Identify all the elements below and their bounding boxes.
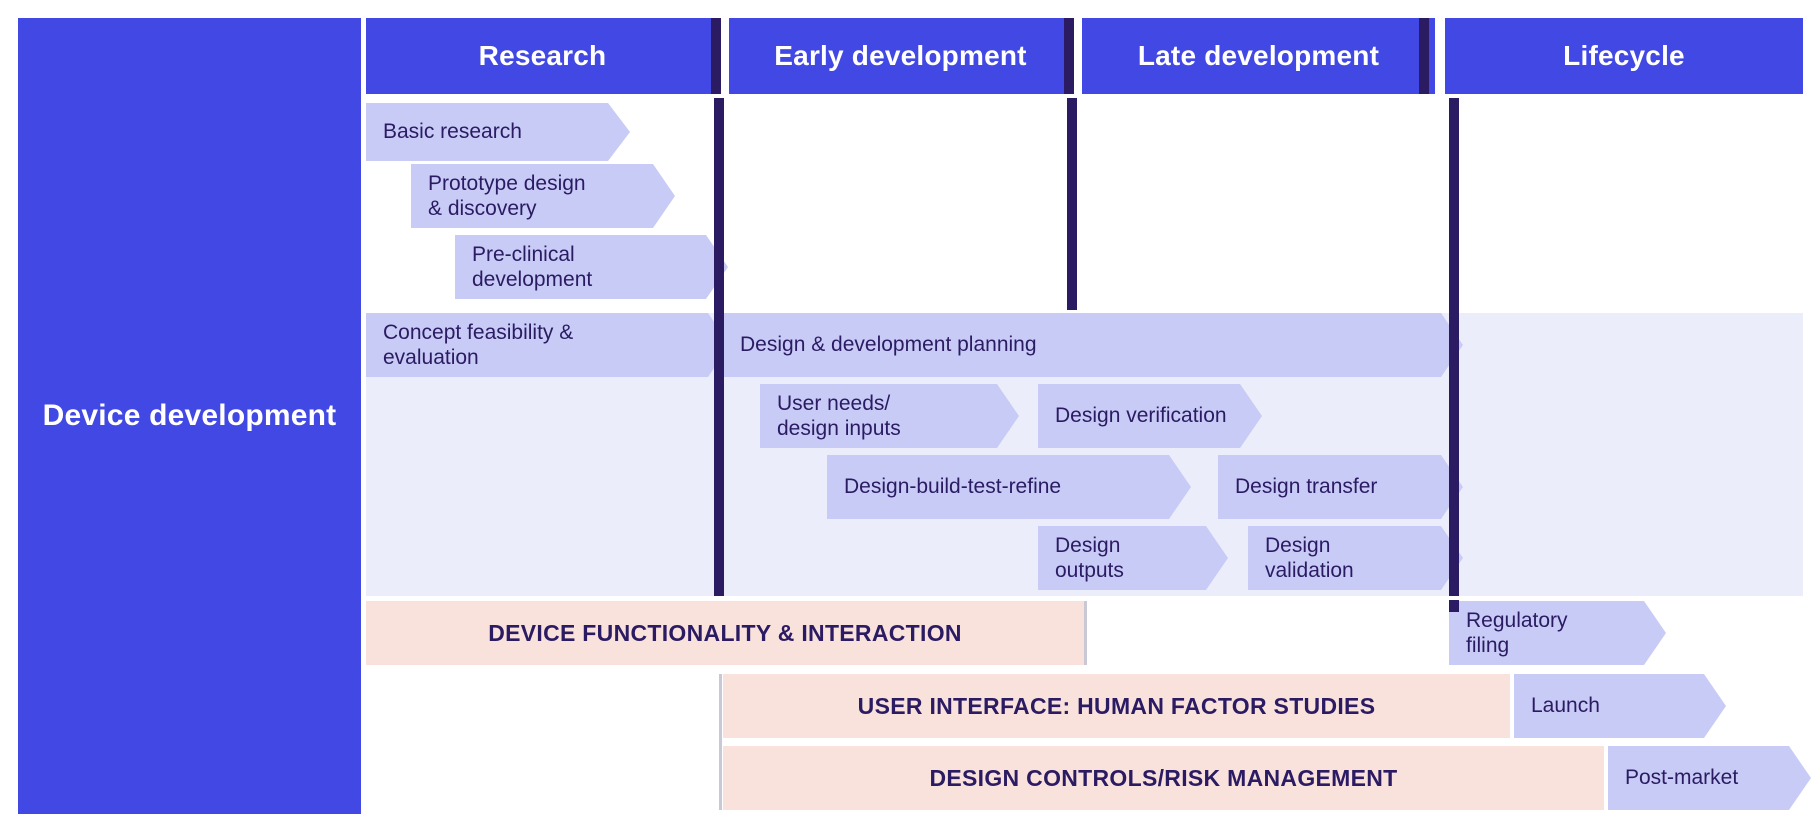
phase-divider-body-2: [1067, 98, 1077, 310]
band-lifecycle-lower: [1450, 313, 1803, 596]
stage-label: Concept feasibility & evaluation: [383, 320, 573, 370]
left-panel-title: Device development: [43, 398, 337, 435]
stage-design-transfer[interactable]: Design transfer: [1218, 455, 1463, 519]
stage-label: Regulatory filing: [1466, 608, 1568, 658]
stage-label: Design-build-test-refine: [844, 474, 1061, 499]
stage-label: Design outputs: [1055, 533, 1124, 583]
phase-header-label: Early development: [774, 40, 1026, 72]
stage-label: Pre-clinical development: [472, 242, 592, 292]
stage-label: Post-market: [1625, 765, 1738, 790]
phase-header-early-development[interactable]: Early development: [729, 18, 1072, 94]
phase-divider-body-1: [714, 98, 724, 596]
phase-divider-body-3b: [1449, 600, 1459, 612]
phase-divider-header-1: [711, 18, 721, 94]
stream-design-controls-risk-management[interactable]: DESIGN CONTROLS/RISK MANAGEMENT: [723, 746, 1604, 810]
stage-design-outputs[interactable]: Design outputs: [1038, 526, 1228, 590]
stage-prototype-design-discovery[interactable]: Prototype design & discovery: [411, 164, 675, 228]
stage-design-development-planning[interactable]: Design & development planning: [723, 313, 1463, 377]
stage-label: Design & development planning: [740, 332, 1037, 357]
phase-header-research[interactable]: Research: [366, 18, 719, 94]
stage-user-needs-design-inputs[interactable]: User needs/ design inputs: [760, 384, 1019, 448]
stage-label: Basic research: [383, 119, 522, 144]
stage-label: Launch: [1531, 693, 1600, 718]
phase-header-label: Lifecycle: [1563, 40, 1685, 72]
diagram-canvas: Device development Research Early develo…: [0, 0, 1820, 828]
stage-label: User needs/ design inputs: [777, 391, 901, 441]
phase-divider-header-2: [1064, 18, 1074, 94]
stage-concept-feasibility-evaluation[interactable]: Concept feasibility & evaluation: [366, 313, 730, 377]
phase-divider-body-3: [1449, 98, 1459, 596]
stage-design-validation[interactable]: Design validation: [1248, 526, 1463, 590]
stage-post-market[interactable]: Post-market: [1608, 746, 1811, 810]
stream-label: DESIGN CONTROLS/RISK MANAGEMENT: [929, 765, 1397, 792]
stream-device-functionality-interaction[interactable]: DEVICE FUNCTIONALITY & INTERACTION: [366, 601, 1084, 665]
phase-header-late-development[interactable]: Late development: [1082, 18, 1435, 94]
phase-header-label: Research: [479, 40, 607, 72]
stage-launch[interactable]: Launch: [1514, 674, 1726, 738]
left-panel-device-development: Device development: [18, 18, 361, 814]
stage-label: Design transfer: [1235, 474, 1377, 499]
stage-basic-research[interactable]: Basic research: [366, 103, 630, 161]
stage-label: Design validation: [1265, 533, 1354, 583]
phase-header-label: Late development: [1138, 40, 1379, 72]
phase-divider-header-3: [1419, 18, 1429, 94]
stage-design-verification[interactable]: Design verification: [1038, 384, 1262, 448]
stream-gridline-2: [719, 674, 722, 810]
stream-user-interface-human-factor-studies[interactable]: USER INTERFACE: HUMAN FACTOR STUDIES: [723, 674, 1510, 738]
stream-label: DEVICE FUNCTIONALITY & INTERACTION: [488, 620, 962, 647]
phase-header-lifecycle[interactable]: Lifecycle: [1445, 18, 1803, 94]
stream-label: USER INTERFACE: HUMAN FACTOR STUDIES: [858, 693, 1376, 720]
stage-label: Design verification: [1055, 403, 1227, 428]
stage-regulatory-filing[interactable]: Regulatory filing: [1449, 601, 1666, 665]
stage-pre-clinical-development[interactable]: Pre-clinical development: [455, 235, 728, 299]
stage-design-build-test-refine[interactable]: Design-build-test-refine: [827, 455, 1191, 519]
stage-label: Prototype design & discovery: [428, 171, 586, 221]
stream-gridline-1: [1084, 601, 1087, 665]
phase-header-row: Research Early development Late developm…: [366, 18, 1803, 94]
